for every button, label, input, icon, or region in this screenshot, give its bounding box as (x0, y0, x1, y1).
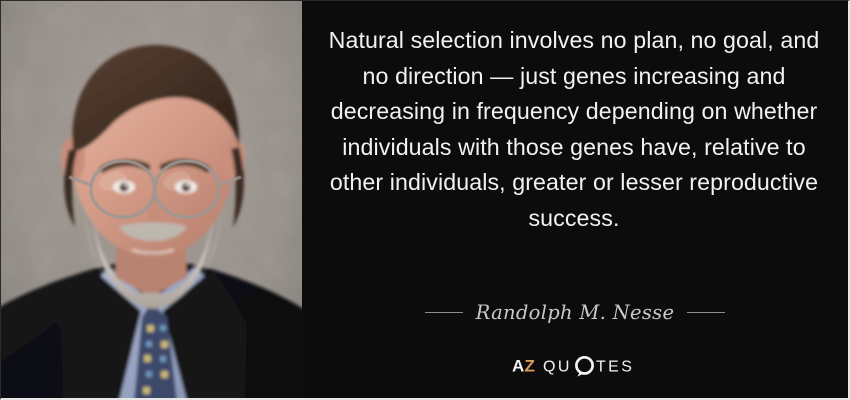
attribution-rule-right (687, 312, 725, 313)
author-name[interactable]: Randolph M. Nesse (476, 301, 675, 324)
logo-quotes-part1: QU (543, 359, 572, 376)
portrait-image (1, 1, 302, 400)
attribution-rule-left (425, 312, 463, 313)
azquotes-logo-mark: A Z QU TES (512, 355, 638, 377)
logo-quotes-part2: TES (596, 359, 634, 376)
quote-card: Natural selection involves no plan, no g… (0, 0, 850, 400)
azquotes-logo[interactable]: A Z QU TES (302, 353, 848, 379)
logo-letter-z: Z (525, 357, 535, 376)
logo-letter-a: A (512, 357, 524, 376)
logo-speech-bubble-o-icon (576, 357, 592, 376)
author-portrait (1, 1, 302, 400)
quote-panel: Natural selection involves no plan, no g… (302, 1, 848, 398)
attribution: Randolph M. Nesse (302, 297, 848, 327)
quote-text: Natural selection involves no plan, no g… (318, 23, 830, 237)
